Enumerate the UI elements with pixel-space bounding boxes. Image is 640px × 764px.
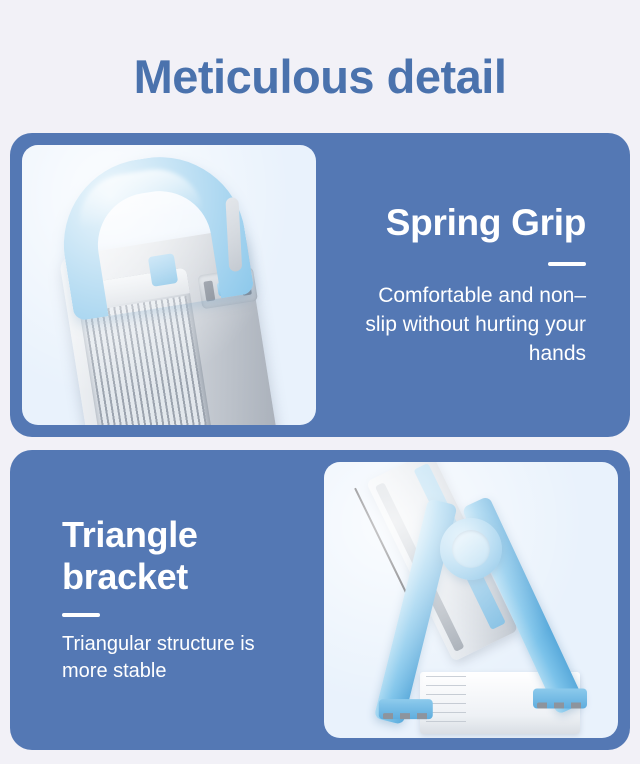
product-photo-spring-grip bbox=[22, 145, 316, 425]
feature-card-triangle-bracket: Triangle bracket Triangular structure is… bbox=[10, 450, 630, 750]
feature-text-spring-grip: Spring Grip Comfortable and non–slip wit… bbox=[326, 133, 630, 437]
product-photo-triangle-bracket bbox=[324, 462, 618, 738]
feature-heading: Triangle bracket bbox=[62, 514, 292, 598]
bracket-illustration bbox=[324, 462, 618, 738]
page-title: Meticulous detail bbox=[0, 52, 640, 101]
feature-heading: Spring Grip bbox=[386, 201, 586, 244]
grater-illustration bbox=[22, 145, 316, 425]
feature-text-triangle-bracket: Triangle bracket Triangular structure is… bbox=[10, 450, 314, 750]
feature-body: Triangular structure is more stable bbox=[62, 631, 292, 686]
heading-divider bbox=[548, 262, 586, 266]
heading-divider bbox=[62, 613, 100, 617]
feature-card-spring-grip: Spring Grip Comfortable and non–slip wit… bbox=[10, 133, 630, 437]
feature-body: Comfortable and non–slip without hurting… bbox=[348, 282, 586, 369]
